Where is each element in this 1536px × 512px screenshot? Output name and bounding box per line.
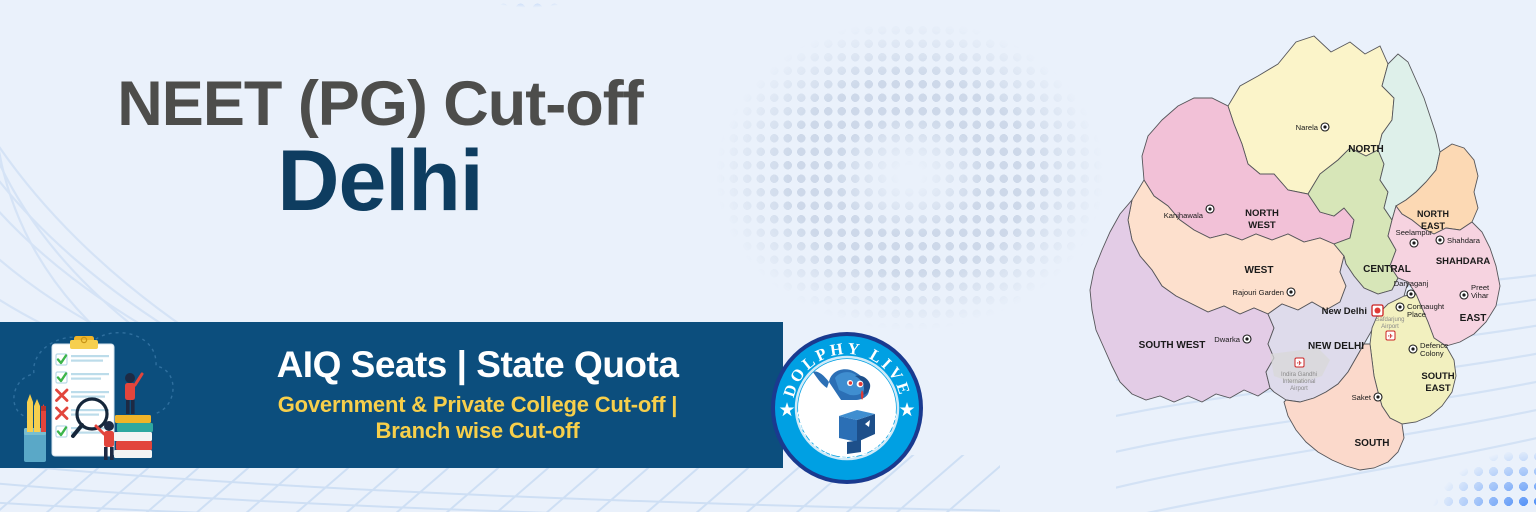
map-label-south-west: SOUTH WEST bbox=[1139, 340, 1206, 351]
dolphy-live-logo[interactable]: ★ ★ DOLPHY LIVE DOLPHIN EDUCATION bbox=[769, 330, 925, 486]
map-label-north-west: NORTH bbox=[1245, 208, 1279, 219]
svg-text:Indira Gandhi: Indira Gandhi bbox=[1281, 372, 1317, 378]
halftone-dots-top bbox=[410, 0, 650, 62]
svg-text:✈: ✈ bbox=[1388, 333, 1394, 340]
svg-text:Place: Place bbox=[1407, 310, 1426, 319]
svg-text:Airport: Airport bbox=[1381, 324, 1399, 330]
svg-text:Shahdara: Shahdara bbox=[1447, 236, 1481, 245]
svg-text:New Delhi: New Delhi bbox=[1322, 306, 1367, 317]
svg-text:Daryaganj: Daryaganj bbox=[1394, 279, 1429, 288]
map-label-north-east: NORTH bbox=[1417, 209, 1449, 219]
svg-text:Dwarka: Dwarka bbox=[1214, 335, 1241, 344]
svg-text:EAST: EAST bbox=[1425, 383, 1451, 394]
map-label-shahdara: SHAHDARA bbox=[1436, 256, 1491, 267]
svg-text:✈: ✈ bbox=[1297, 360, 1303, 367]
map-marker-new-delhi-capital: New Delhi bbox=[1322, 305, 1383, 317]
halftone-dots-center bbox=[700, 10, 1120, 340]
map-label-west: WEST bbox=[1245, 265, 1274, 276]
map-label-central: CENTRAL bbox=[1363, 264, 1411, 275]
svg-text:Vihar: Vihar bbox=[1471, 291, 1489, 300]
page-subtitle-state: Delhi bbox=[0, 138, 760, 224]
banner-text-block: AIQ Seats | State Quota Government & Pri… bbox=[186, 345, 783, 445]
star-left-icon: ★ bbox=[778, 400, 795, 421]
map-label-south-east: SOUTH bbox=[1421, 371, 1454, 382]
info-banner: AIQ Seats | State Quota Government & Pri… bbox=[0, 322, 783, 468]
svg-text:Narela: Narela bbox=[1296, 123, 1319, 132]
svg-text:International: International bbox=[1282, 379, 1315, 385]
banner-subheading: Government & Private College Cut-off | B… bbox=[186, 392, 769, 445]
delhi-districts-map: NORTH NORTH WEST WEST SOUTH WEST CENTRAL… bbox=[1082, 24, 1532, 476]
svg-text:Saket: Saket bbox=[1352, 393, 1372, 402]
svg-text:Seelampur: Seelampur bbox=[1396, 228, 1433, 237]
banner-heading: AIQ Seats | State Quota bbox=[186, 345, 769, 385]
page-title: NEET (PG) Cut-off bbox=[0, 72, 760, 136]
map-label-east: EAST bbox=[1460, 313, 1487, 324]
banner-page: NEET (PG) Cut-off Delhi bbox=[0, 0, 1536, 512]
svg-text:Kanjhawala: Kanjhawala bbox=[1164, 211, 1204, 220]
title-block: NEET (PG) Cut-off Delhi bbox=[0, 72, 760, 224]
banner-subheading-line1: Government & Private College Cut-off | bbox=[278, 392, 678, 417]
svg-text:WEST: WEST bbox=[1248, 220, 1276, 231]
svg-text:Airport: Airport bbox=[1290, 386, 1308, 392]
map-label-south: SOUTH bbox=[1355, 438, 1390, 449]
banner-subheading-line2: Branch wise Cut-off bbox=[376, 418, 580, 443]
star-right-icon: ★ bbox=[898, 400, 915, 421]
svg-text:Rajouri Garden: Rajouri Garden bbox=[1233, 288, 1285, 297]
svg-text:Colony: Colony bbox=[1420, 349, 1444, 358]
checklist-clipboard-illustration bbox=[0, 322, 186, 468]
svg-text:Safdarjung: Safdarjung bbox=[1375, 317, 1404, 323]
map-label-north: NORTH bbox=[1348, 144, 1384, 155]
